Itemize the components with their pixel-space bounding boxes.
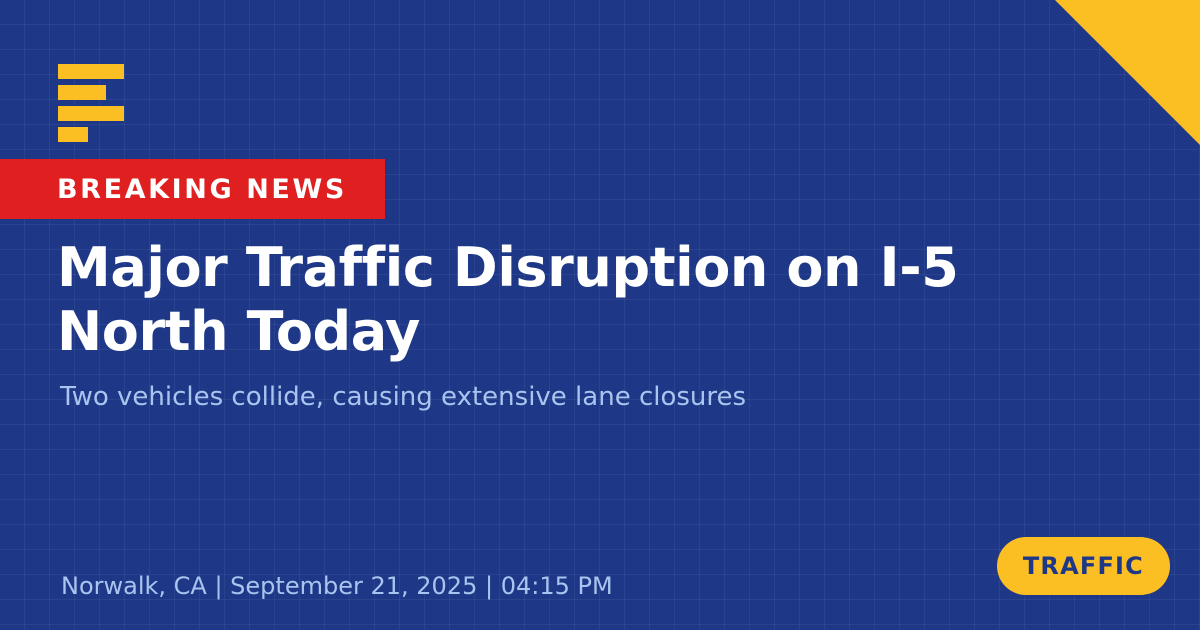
brand-logo-icon (58, 64, 138, 142)
category-badge: TRAFFIC (997, 537, 1170, 595)
corner-triangle-icon (1055, 0, 1200, 145)
breaking-news-banner: BREAKING NEWS (0, 159, 385, 219)
logo-bar-1 (58, 64, 124, 79)
subtitle: Two vehicles collide, causing extensive … (60, 381, 1060, 415)
category-badge-label: TRAFFIC (1023, 554, 1144, 578)
footer-meta: Norwalk, CA | September 21, 2025 | 04:15… (61, 574, 613, 598)
headline: Major Traffic Disruption on I-5 North To… (57, 236, 1117, 363)
breaking-news-label: BREAKING NEWS (57, 176, 347, 203)
logo-bar-2 (58, 85, 106, 100)
breaking-news-card: BREAKING NEWS Major Traffic Disruption o… (0, 0, 1200, 630)
logo-bar-4 (58, 127, 88, 142)
logo-bar-3 (58, 106, 124, 121)
